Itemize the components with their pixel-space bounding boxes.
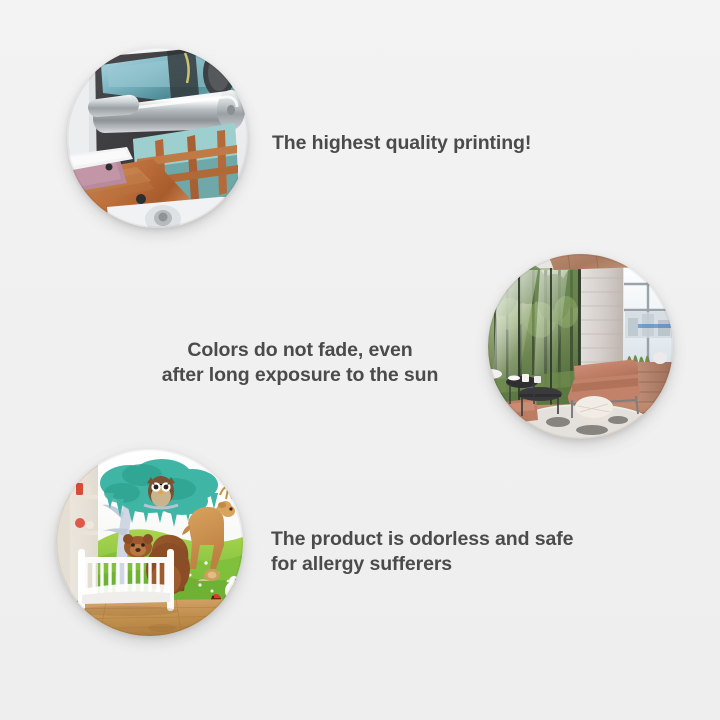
caption-highest-quality-printing: The highest quality printing! (272, 131, 531, 156)
caption-odorless-and-safe: The product is odorless and safe for all… (271, 527, 573, 577)
printing-press-illustration (67, 47, 248, 228)
printing-press-photo (67, 47, 248, 228)
feature-collage: The highest quality printing! (0, 0, 720, 720)
loft-interior-photo (488, 254, 673, 439)
loft-interior-illustration (488, 254, 673, 439)
nursery-interior-photo (56, 449, 243, 636)
caption-colors-do-not-fade: Colors do not fade, even after long expo… (150, 338, 450, 388)
nursery-interior-illustration (56, 449, 243, 636)
